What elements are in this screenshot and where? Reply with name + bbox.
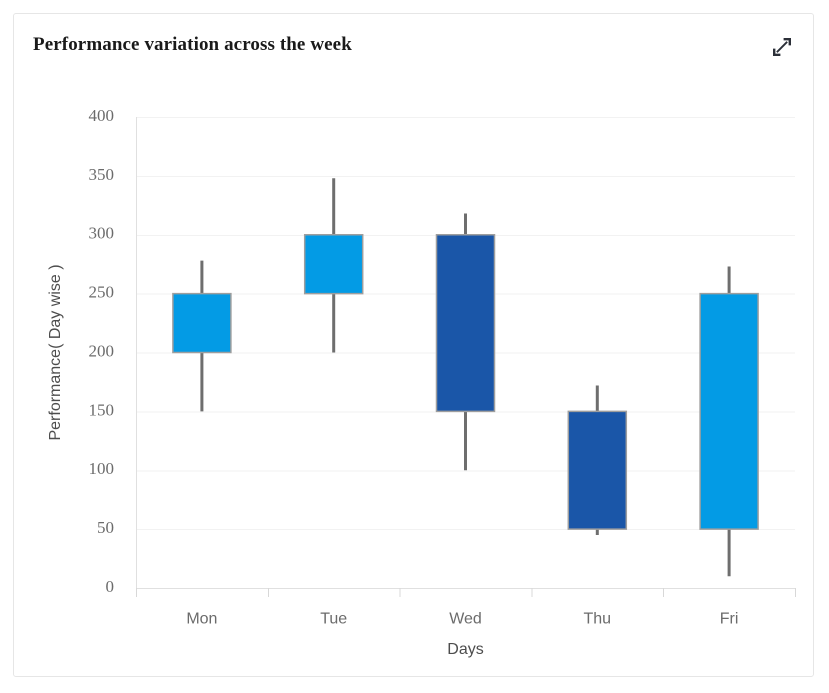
y-axis-tick-label: 0 bbox=[106, 577, 115, 596]
x-axis-tick-labels: MonTueWedThuFri bbox=[186, 610, 738, 627]
y-axis-tick-label: 250 bbox=[89, 283, 115, 302]
y-axis-title: Performance( Day wise ) bbox=[47, 264, 64, 440]
candlestick-thu[interactable] bbox=[568, 385, 626, 535]
candlestick-series bbox=[173, 178, 758, 576]
y-axis-tick-label: 50 bbox=[97, 518, 114, 537]
plot-area: 050100150200250300350400 MonTueWedThuFri… bbox=[14, 14, 815, 678]
candlestick-body bbox=[700, 294, 758, 530]
x-axis-tick-label: Thu bbox=[584, 610, 612, 627]
x-axis-tick-label: Tue bbox=[320, 610, 347, 627]
candlestick-fri[interactable] bbox=[700, 267, 758, 577]
x-axis-tick-label: Fri bbox=[720, 610, 739, 627]
candlestick-body bbox=[305, 235, 363, 294]
candlestick-tue[interactable] bbox=[305, 178, 363, 352]
candlestick-body bbox=[568, 411, 626, 529]
y-axis-tick-label: 350 bbox=[89, 165, 115, 184]
y-axis-tick-label: 100 bbox=[89, 459, 115, 478]
x-axis-title: Days bbox=[447, 641, 483, 658]
candlestick-wed[interactable] bbox=[437, 214, 495, 471]
candlestick-body bbox=[173, 294, 231, 353]
chart-card: Performance variation across the week 05… bbox=[13, 13, 814, 677]
x-axis-tick-marks bbox=[137, 588, 796, 597]
candlestick-chart: 050100150200250300350400 MonTueWedThuFri… bbox=[14, 14, 815, 678]
x-axis-tick-label: Wed bbox=[449, 610, 482, 627]
x-axis-tick-label: Mon bbox=[186, 610, 217, 627]
y-axis-tick-labels: 050100150200250300350400 bbox=[89, 106, 115, 596]
y-axis-tick-label: 400 bbox=[89, 106, 115, 125]
candlestick-mon[interactable] bbox=[173, 261, 231, 412]
candlestick-body bbox=[437, 235, 495, 412]
y-axis-tick-label: 300 bbox=[89, 224, 115, 243]
y-axis-tick-label: 200 bbox=[89, 341, 115, 360]
y-axis-tick-label: 150 bbox=[89, 400, 115, 419]
